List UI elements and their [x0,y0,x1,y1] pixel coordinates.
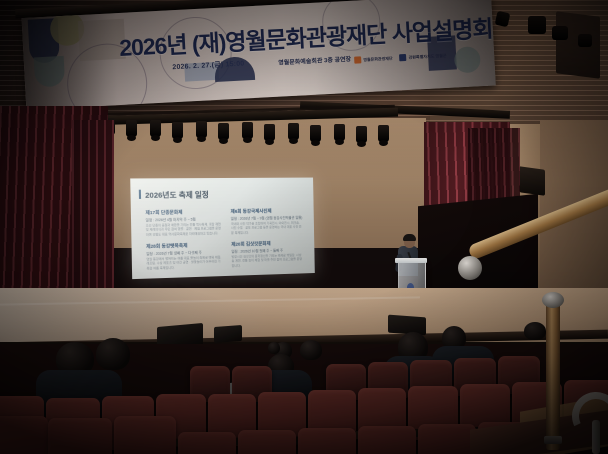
aisle-post-cap [542,292,564,308]
foundation-logo-label: 영월문화관광재단 [363,55,393,63]
theater-seat [178,432,236,454]
presenter-hair [403,234,416,241]
slide-cell: 제17회 단종문화제 일정 : 2026년 4월 마지막 주 ~ 5월 조선 단… [145,209,221,240]
slide-cell: 제28회 동강뗏목축제 일정 : 2026년 7월 넷째 주 ~ 다섯째 주 영… [146,242,222,273]
slide-content-grid: 제17회 단종문화제 일정 : 2026년 4월 마지막 주 ~ 5월 조선 단… [145,208,303,274]
slide-cell-heading: 제28회 동강뗏목축제 [146,242,221,250]
theater-seat [418,424,476,454]
theater-seat [0,416,48,454]
wall-speaker [519,166,545,196]
slide-cell-body: 방랑시인 김삿갓의 문학정신을 기리는 축제로 백일장, 시낭송 경연, 전통 … [231,253,303,268]
banner-shape-teal-circle [454,46,481,73]
foundation-logo-mark [354,56,361,63]
banner-shape-teal-arc [34,56,66,88]
stage-monitor [214,325,242,343]
theater-seat [238,430,296,454]
audience-head [524,322,546,340]
slide-title: 2026년도 축제 일정 [145,189,209,201]
county-logo-label: 강원특별자치도 영월군 [408,52,446,60]
slide-cell: 제6회 동강국제사진제 일정 : 2026년 7월 ~ 9월 (영월 동강사진박… [231,208,303,238]
aisle-post-base-band [544,436,562,444]
theater-seat [358,426,416,454]
projection-screen: 2026년도 축제 일정 제17회 단종문화제 일정 : 2026년 4월 마지… [130,178,315,280]
slide-cell-body: 국내외 사진 작가를 초청하여 기획전시, 야외전시, 워크숍, 사진 수업 ·… [231,221,303,236]
slide-cell-body: 영월 동강에서 펼쳐지는 여름 대표 물놀이 축제로 뗏목 체험, 래프팅, 수… [146,255,221,271]
lectern-top [395,258,427,263]
theater-seat [114,416,176,454]
aisle-post [546,300,560,450]
auditorium-photo: 2026년 (재)영월문화관광재단 사업설명회 2026. 2. 27.(금) … [0,0,608,454]
slide-cell-heading: 제20회 김삿갓문화제 [231,240,303,248]
county-logo-mark [399,54,406,61]
foundation-logo: 영월문화관광재단 [354,55,393,64]
slide-cell-heading: 제6회 동강국제사진제 [231,208,303,215]
theater-seat [48,418,112,454]
slide-cell-body: 조선 단종의 충절과 애환을 기리는 전통 역사축제, 국장 재현 및 제례의식… [146,222,221,237]
banner-venue: 영월문화예술회관 3층 공연장 [278,54,351,67]
audience-head [300,340,322,360]
audience-head [268,342,280,354]
slide-cell-heading: 제17회 단종문화제 [145,209,220,216]
theater-seat [298,428,356,454]
handrail-vertical-metal [592,420,600,454]
audience-head [96,338,130,370]
slide-cell: 제20회 김삿갓문화제 일정 : 2026년 10월 첫째 주 ~ 둘째 주 방… [231,240,303,271]
handrail-ball-finial [458,256,482,280]
